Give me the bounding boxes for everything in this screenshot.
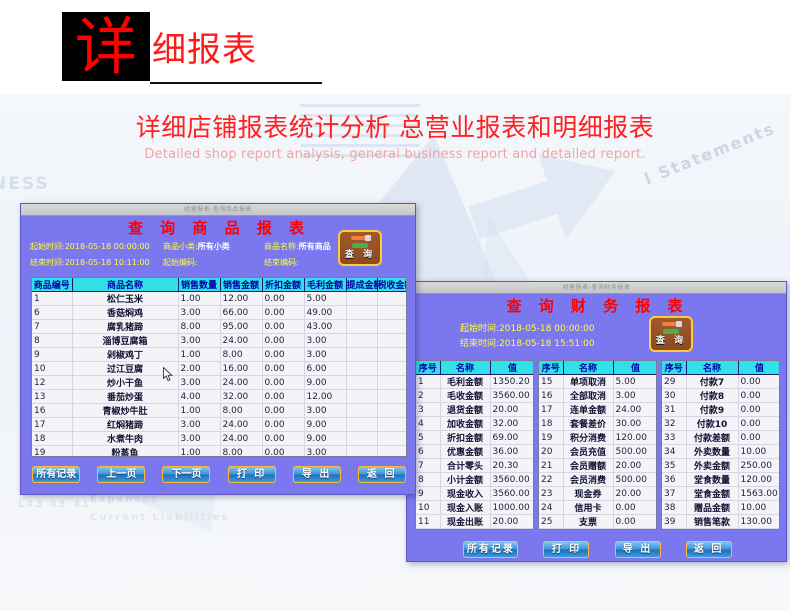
table-cell: 7 (416, 459, 440, 473)
table-cell: 20.00 (490, 403, 534, 417)
goods-all-records-button[interactable]: 所有记录 (32, 466, 80, 483)
table-row[interactable]: 9剁椒鸡丁1.008.000.003.00 (32, 348, 407, 362)
table-row[interactable]: 13番茄炒蛋4.0032.000.0012.00 (32, 390, 407, 404)
goods-end-time-label: 结束时间: (30, 258, 65, 267)
table-cell: 0.00 (262, 334, 304, 348)
table-row[interactable]: 33付款差额0.00 (662, 431, 780, 445)
table-row[interactable]: 16青椒炒牛肚1.008.000.003.00 (32, 404, 407, 418)
table-row[interactable]: 3退货金额20.00 (416, 403, 534, 417)
screenshot-root: 详 细报表 NESS l Statements Peace Read L43 4… (0, 0, 790, 611)
table-row[interactable]: 25支票0.00 (539, 515, 657, 529)
goods-name-row: 商品名称:所有商品 (264, 240, 331, 253)
table-cell: 微信支付 (686, 529, 738, 531)
finance-all-records-button[interactable]: 所有记录 (463, 541, 518, 558)
table-row[interactable]: 11现金出账20.00 (416, 515, 534, 529)
table-cell: 49.00 (304, 306, 346, 320)
background-text: NESS (0, 174, 50, 194)
table-row[interactable]: 16全部取消3.00 (539, 389, 657, 403)
goods-grid[interactable]: 商品编号 商品名称 销售数量 销售金额 折扣金额 毛利金额 提成金额 税收金额 … (31, 277, 407, 457)
table-row[interactable]: 5折扣金额69.00 (416, 431, 534, 445)
finance-start-time-label: 起始时间: (460, 324, 499, 334)
table-cell: 现金入账 (440, 501, 490, 515)
table-cell: 12.00 (220, 292, 262, 306)
table-cell: 现金券 (563, 487, 613, 501)
table-row[interactable]: 30付款80.00 (662, 389, 780, 403)
table-cell: 4.00 (178, 390, 220, 404)
table-cell: 25 (539, 515, 563, 529)
goods-name-label: 商品名称: (264, 242, 299, 251)
table-cell: 8.00 (220, 348, 262, 362)
table-cell: 0.00 (262, 348, 304, 362)
table-cell: 堂食金额 (686, 487, 738, 501)
table-cell: 11 (416, 515, 440, 529)
table-cell: 500.00 (613, 445, 657, 459)
finance-start-time-row: 起始时间:2018-05-18 00:00:00 (460, 322, 595, 336)
table-cell: 26 (539, 529, 563, 531)
table-cell: 32 (662, 417, 686, 431)
table-row[interactable]: 40微信支付352.00 (662, 529, 780, 531)
table-cell: 5 (416, 431, 440, 445)
table-cell (346, 446, 377, 458)
table-row[interactable]: 12炒小干鱼3.0024.000.009.00 (32, 376, 407, 390)
table-cell (346, 348, 377, 362)
table-cell: 小计金额 (440, 473, 490, 487)
banner-subtitle: Detailed shop report analysis, general b… (0, 146, 790, 164)
table-cell: 3.00 (304, 334, 346, 348)
table-row[interactable]: 34外卖数量10.00 (662, 445, 780, 459)
table-cell (346, 418, 377, 432)
table-cell (377, 306, 407, 320)
table-cell: 香菇焖鸡 (72, 306, 178, 320)
finance-report-window[interactable]: 经营报表-查询财务报表 查 询 财 务 报 表 起始时间:2018-05-18 … (406, 281, 787, 562)
table-row[interactable]: 18套餐差价30.00 (539, 417, 657, 431)
finance-table-1: 序号 名称 值 1毛利金额1350.202毛收金额3560.003退货金额20.… (416, 361, 534, 530)
table-cell: 签单 (563, 529, 613, 531)
finance-export-button[interactable]: 导 出 (615, 541, 661, 558)
table-row[interactable]: 18水煮牛肉3.0024.000.009.00 (32, 432, 407, 446)
table-cell: 16 (32, 404, 72, 418)
table-cell: 1.00 (178, 292, 220, 306)
table-cell: 套餐差价 (563, 417, 613, 431)
table-row[interactable]: 26签单0.00 (539, 529, 657, 531)
table-cell: 12 (32, 376, 72, 390)
th-goods-code: 商品编号 (32, 278, 72, 292)
table-cell: 3.00 (178, 432, 220, 446)
table-cell: 3.00 (613, 389, 657, 403)
table-cell (377, 376, 407, 390)
goods-query-button-label: 查 询 (340, 249, 380, 261)
table-cell: 全部取消 (563, 389, 613, 403)
table-cell: 36.00 (490, 445, 534, 459)
table-cell (346, 334, 377, 348)
table-cell: 37 (662, 487, 686, 501)
table-cell: 20 (539, 445, 563, 459)
table-cell: 1000.00 (490, 501, 534, 515)
table-cell: 付款7 (686, 375, 738, 389)
table-cell: 22 (539, 473, 563, 487)
table-cell: 8 (416, 473, 440, 487)
table-row[interactable]: 19积分消费120.00 (539, 431, 657, 445)
table-cell: 24.00 (220, 376, 262, 390)
th-seq: 序号 (416, 361, 440, 375)
finance-grid-col2[interactable]: 序号 名称 值 15单项取消5.0016全部取消3.0017连单金额24.001… (538, 360, 657, 530)
finance-end-time-row: 结束时间:2018-05-18 15:51:00 (460, 337, 595, 351)
table-cell: 3560.00 (490, 487, 534, 501)
goods-end-time-value[interactable]: 2018-05-18 10:11:00 (65, 258, 150, 267)
table-cell: 4 (416, 417, 440, 431)
table-cell (377, 432, 407, 446)
header-title-rest: 细报表 (152, 30, 257, 70)
table-row[interactable]: 6香菇焖鸡3.0066.000.0049.00 (32, 306, 407, 320)
table-cell: 17 (539, 403, 563, 417)
table-cell (346, 306, 377, 320)
th-name: 名称 (563, 361, 613, 375)
table-cell: 3.00 (304, 446, 346, 458)
table-cell (346, 362, 377, 376)
th-sale-amount: 销售金额 (220, 278, 262, 292)
table-cell (346, 432, 377, 446)
table-cell: 20.00 (613, 459, 657, 473)
table-cell: 现金收入 (440, 487, 490, 501)
finance-grid-col1[interactable]: 序号 名称 值 1毛利金额1350.202毛收金额3560.003退货金额20.… (415, 360, 534, 530)
table-cell: 12 (416, 529, 440, 531)
table-cell: 1350.20 (490, 375, 534, 389)
goods-window-titlebar-text: 经营报表-查询商品报表 (21, 204, 415, 216)
table-row[interactable]: 4加收金额32.00 (416, 417, 534, 431)
table-cell: 番茄炒蛋 (72, 390, 178, 404)
table-cell: 合计零头 (440, 459, 490, 473)
table-cell: 优惠金额 (440, 445, 490, 459)
th-value: 值 (613, 361, 657, 375)
table-row[interactable]: 22会员消费500.00 (539, 473, 657, 487)
table-cell: 21 (539, 459, 563, 473)
table-cell: 1.00 (178, 348, 220, 362)
table-cell: 30 (662, 389, 686, 403)
table-cell: 0.00 (262, 390, 304, 404)
header-badge: 详 (62, 12, 150, 81)
query-icon (661, 321, 681, 335)
table-row[interactable]: 6优惠金额36.00 (416, 445, 534, 459)
table-cell: 16 (539, 389, 563, 403)
table-cell: 3.00 (178, 334, 220, 348)
goods-subcat-value[interactable]: 所有小类 (198, 242, 230, 251)
table-cell: 3 (416, 403, 440, 417)
table-cell (377, 390, 407, 404)
table-cell: 352.00 (738, 529, 780, 531)
table-cell: 13 (32, 390, 72, 404)
table-cell: 17 (32, 418, 72, 432)
table-cell: 95.00 (220, 320, 262, 334)
table-cell: 付款9 (686, 403, 738, 417)
table-cell: 19 (539, 431, 563, 445)
table-cell: 粉蒸鱼 (72, 446, 178, 458)
goods-end-code-label: 结束编码: (264, 258, 299, 267)
table-cell: 69.00 (490, 431, 534, 445)
table-cell: 8 (32, 334, 72, 348)
table-cell: 过江豆腐 (72, 362, 178, 376)
table-cell: 29 (662, 375, 686, 389)
page-header: 详 细报表 (0, 0, 790, 94)
goods-start-time-value[interactable]: 2018-05-18 00:00:00 (65, 242, 150, 251)
background-text: Expenses (90, 494, 159, 505)
goods-export-button[interactable]: 导 出 (293, 466, 341, 483)
table-cell: 32.00 (220, 390, 262, 404)
table-cell: 赠品金额 (686, 501, 738, 515)
th-name: 名称 (686, 361, 738, 375)
header-badge-char: 详 (62, 12, 150, 81)
table-row[interactable]: 39销售笔款130.00 (662, 515, 780, 529)
table-row[interactable]: 15单项取消5.00 (539, 375, 657, 389)
table-cell: 0.00 (262, 362, 304, 376)
table-cell: 8.00 (178, 320, 220, 334)
th-sale-qty: 销售数量 (178, 278, 220, 292)
table-cell: 1.00 (178, 404, 220, 418)
table-cell: 毛利金额 (440, 375, 490, 389)
table-row[interactable]: 38赠品金额10.00 (662, 501, 780, 515)
table-cell: 堂食数量 (686, 473, 738, 487)
table-cell: 0.00 (262, 432, 304, 446)
table-row[interactable]: 8淄博豆腐箱3.0024.000.003.00 (32, 334, 407, 348)
finance-print-button[interactable]: 打 印 (543, 541, 589, 558)
table-cell: 1 (32, 292, 72, 306)
table-cell: 6.00 (304, 362, 346, 376)
table-cell: 付款差额 (686, 431, 738, 445)
table-cell: 红焖猪蹄 (72, 418, 178, 432)
th-tax-amount: 税收金额 (377, 278, 407, 292)
background-text: Current Liabilities (90, 512, 229, 523)
table-row[interactable]: 29付款70.00 (662, 375, 780, 389)
th-value: 值 (490, 361, 534, 375)
goods-start-time-label: 起始时间: (30, 242, 65, 251)
table-cell: 0.00 (262, 320, 304, 334)
table-row[interactable]: 31付款90.00 (662, 403, 780, 417)
table-cell: 支票 (563, 515, 613, 529)
table-row[interactable]: 17红焖猪蹄3.0024.000.009.00 (32, 418, 407, 432)
table-cell: 1563.00 (738, 487, 780, 501)
table-row[interactable]: 37堂食金额1563.00 (662, 487, 780, 501)
table-cell: 120.00 (613, 431, 657, 445)
table-cell: 水煮牛肉 (72, 432, 178, 446)
finance-back-button[interactable]: 返 回 (686, 541, 732, 558)
table-cell: 2.00 (178, 362, 220, 376)
table-row[interactable]: 36堂食数量120.00 (662, 473, 780, 487)
table-cell: 0.00 (262, 292, 304, 306)
table-row[interactable]: 23现金券20.00 (539, 487, 657, 501)
table-cell: 8.00 (220, 404, 262, 418)
finance-start-time-value[interactable]: 2018-05-18 00:00:00 (499, 324, 595, 334)
table-cell: 19 (32, 446, 72, 458)
table-cell (377, 362, 407, 376)
table-cell: 外卖金额 (686, 459, 738, 473)
table-row[interactable]: 2毛收金额3560.00 (416, 389, 534, 403)
table-cell: 18 (32, 432, 72, 446)
table-cell (346, 376, 377, 390)
table-cell: 18 (539, 417, 563, 431)
table-cell: 10 (32, 362, 72, 376)
table-cell: 0.00 (738, 417, 780, 431)
table-cell: 39 (662, 515, 686, 529)
table-cell: 毛收金额 (440, 389, 490, 403)
table-cell: 34 (662, 445, 686, 459)
goods-start-code-label: 起始编码: (163, 258, 198, 267)
table-cell: 3560.00 (490, 389, 534, 403)
th-goods-name: 商品名称 (72, 278, 178, 292)
table-cell: 销售笔款 (686, 515, 738, 529)
table-cell: 66.00 (220, 306, 262, 320)
table-cell: 20.30 (490, 459, 534, 473)
th-seq: 序号 (662, 361, 686, 375)
background-text: L43 43 41 (18, 499, 91, 510)
table-row[interactable]: 7合计零头20.30 (416, 459, 534, 473)
table-cell: 0.00 (613, 501, 657, 515)
table-cell: 10.00 (738, 501, 780, 515)
table-cell (377, 320, 407, 334)
table-cell: 退货金额 (440, 403, 490, 417)
th-discount-amount: 折扣金额 (262, 278, 304, 292)
table-cell: 连单金额 (563, 403, 613, 417)
goods-report-window[interactable]: 经营报表-查询商品报表 查 询 商 品 报 表 起始时间:2018-05-18 … (20, 203, 416, 495)
table-cell: 250.00 (738, 459, 780, 473)
banner-title: 详细店铺报表统计分析 总营业报表和明细报表 (0, 113, 790, 143)
table-cell: 积分消费 (563, 431, 613, 445)
table-cell: 会员充值 (563, 445, 613, 459)
table-cell: 30.00 (613, 417, 657, 431)
table-cell: 3.00 (304, 348, 346, 362)
finance-table-2: 序号 名称 值 15单项取消5.0016全部取消3.0017连单金额24.001… (539, 361, 657, 530)
table-row[interactable]: 1松仁玉米1.0012.000.005.00 (32, 292, 407, 306)
table-cell: 0.00 (262, 306, 304, 320)
goods-next-page-button[interactable]: 下一页 (162, 466, 210, 483)
table-row[interactable]: 35外卖金额250.00 (662, 459, 780, 473)
table-cell: 加收金额 (440, 417, 490, 431)
table-cell: 0.00 (738, 389, 780, 403)
table-cell: 9 (32, 348, 72, 362)
table-cell: 24.00 (220, 432, 262, 446)
table-cell: 0.00 (262, 376, 304, 390)
table-cell: 腐乳猪蹄 (72, 320, 178, 334)
table-cell: 23 (539, 487, 563, 501)
table-row[interactable]: 12现金总计0.00 (416, 529, 534, 531)
goods-end-code-row: 结束编码: (264, 256, 299, 269)
table-cell (377, 334, 407, 348)
table-row[interactable]: 32付款100.00 (662, 417, 780, 431)
table-row[interactable]: 21会员赠额20.00 (539, 459, 657, 473)
table-cell: 20.00 (490, 515, 534, 529)
finance-query-button[interactable]: 查 询 (649, 316, 693, 352)
th-seq: 序号 (539, 361, 563, 375)
table-cell: 9.00 (304, 432, 346, 446)
table-cell: 9.00 (304, 418, 346, 432)
goods-query-button[interactable]: 查 询 (338, 230, 382, 266)
table-cell: 130.00 (738, 515, 780, 529)
table-row[interactable]: 19粉蒸鱼1.008.000.003.00 (32, 446, 407, 458)
table-cell: 0.00 (490, 529, 534, 531)
goods-window-titlebar[interactable]: 经营报表-查询商品报表 (21, 204, 415, 216)
goods-button-bar: 所有记录 上一页 下一页 打 印 导 出 返 回 (21, 462, 417, 483)
table-cell: 24.00 (220, 334, 262, 348)
table-cell: 500.00 (613, 473, 657, 487)
goods-name-value[interactable]: 所有商品 (299, 242, 331, 251)
table-cell: 6 (32, 306, 72, 320)
finance-window-titlebar[interactable]: 经营报表-查询财务报表 (407, 282, 786, 294)
table-cell: 外卖数量 (686, 445, 738, 459)
table-cell: 1 (416, 375, 440, 389)
table-cell: 38 (662, 501, 686, 515)
table-cell: 单项取消 (563, 375, 613, 389)
table-cell: 24.00 (613, 403, 657, 417)
table-cell (346, 390, 377, 404)
table-cell: 6 (416, 445, 440, 459)
finance-grid-col3[interactable]: 序号 名称 值 29付款70.0030付款80.0031付款90.0032付款1… (661, 360, 780, 530)
table-cell: 9 (416, 487, 440, 501)
goods-print-button[interactable]: 打 印 (228, 466, 276, 483)
goods-start-time-row: 起始时间:2018-05-18 00:00:00 (30, 240, 150, 253)
finance-button-bar: 所有记录 打 印 导 出 返 回 (407, 537, 788, 558)
table-row[interactable]: 24信用卡0.00 (539, 501, 657, 515)
table-cell: 3.00 (178, 306, 220, 320)
goods-table: 商品编号 商品名称 销售数量 销售金额 折扣金额 毛利金额 提成金额 税收金额 … (32, 278, 407, 457)
table-cell: 信用卡 (563, 501, 613, 515)
table-row[interactable]: 9现金收入3560.00 (416, 487, 534, 501)
table-cell: 20.00 (613, 487, 657, 501)
goods-end-time-row: 结束时间:2018-05-18 10:11:00 (30, 256, 150, 269)
table-cell: 0.00 (262, 418, 304, 432)
finance-end-time-label: 结束时间: (460, 339, 499, 349)
query-icon (350, 235, 370, 249)
table-row[interactable]: 10现金入账1000.00 (416, 501, 534, 515)
table-row[interactable]: 1毛利金额1350.20 (416, 375, 534, 389)
table-header-row: 商品编号 商品名称 销售数量 销售金额 折扣金额 毛利金额 提成金额 税收金额 (32, 278, 407, 292)
table-cell: 松仁玉米 (72, 292, 178, 306)
table-cell: 3560.00 (490, 473, 534, 487)
table-row[interactable]: 17连单金额24.00 (539, 403, 657, 417)
table-cell: 120.00 (738, 473, 780, 487)
table-cell: 12.00 (304, 390, 346, 404)
finance-end-time-value[interactable]: 2018-05-18 15:51:00 (499, 339, 595, 349)
goods-back-button[interactable]: 返 回 (358, 466, 406, 483)
table-row[interactable]: 20会员充值500.00 (539, 445, 657, 459)
goods-start-code-row: 起始编码: (163, 256, 198, 269)
table-row[interactable]: 8小计金额3560.00 (416, 473, 534, 487)
table-row[interactable]: 7腐乳猪蹄8.0095.000.0043.00 (32, 320, 407, 334)
table-row[interactable]: 10过江豆腐2.0016.000.006.00 (32, 362, 407, 376)
table-cell (377, 292, 407, 306)
finance-page-title: 查 询 财 务 报 表 (407, 296, 788, 316)
table-cell: 9.00 (304, 376, 346, 390)
table-cell: 31 (662, 403, 686, 417)
goods-prev-page-button[interactable]: 上一页 (97, 466, 145, 483)
table-cell (377, 446, 407, 458)
goods-subcat-row: 商品小类:所有小类 (163, 240, 230, 253)
table-header-row: 序号 名称 值 (539, 361, 657, 375)
table-cell: 0.00 (738, 431, 780, 445)
th-profit-amount: 毛利金额 (304, 278, 346, 292)
table-cell: 15 (539, 375, 563, 389)
table-cell: 0.00 (262, 446, 304, 458)
table-cell: 淄博豆腐箱 (72, 334, 178, 348)
table-cell: 0.00 (613, 529, 657, 531)
table-cell: 3.00 (304, 404, 346, 418)
table-cell: 会员消费 (563, 473, 613, 487)
table-cell (377, 418, 407, 432)
table-cell: 5.00 (613, 375, 657, 389)
table-header-row: 序号 名称 值 (416, 361, 534, 375)
finance-query-button-label: 查 询 (651, 335, 691, 347)
table-cell: 剁椒鸡丁 (72, 348, 178, 362)
table-cell: 0.00 (738, 403, 780, 417)
table-cell: 24.00 (220, 418, 262, 432)
table-cell: 16.00 (220, 362, 262, 376)
